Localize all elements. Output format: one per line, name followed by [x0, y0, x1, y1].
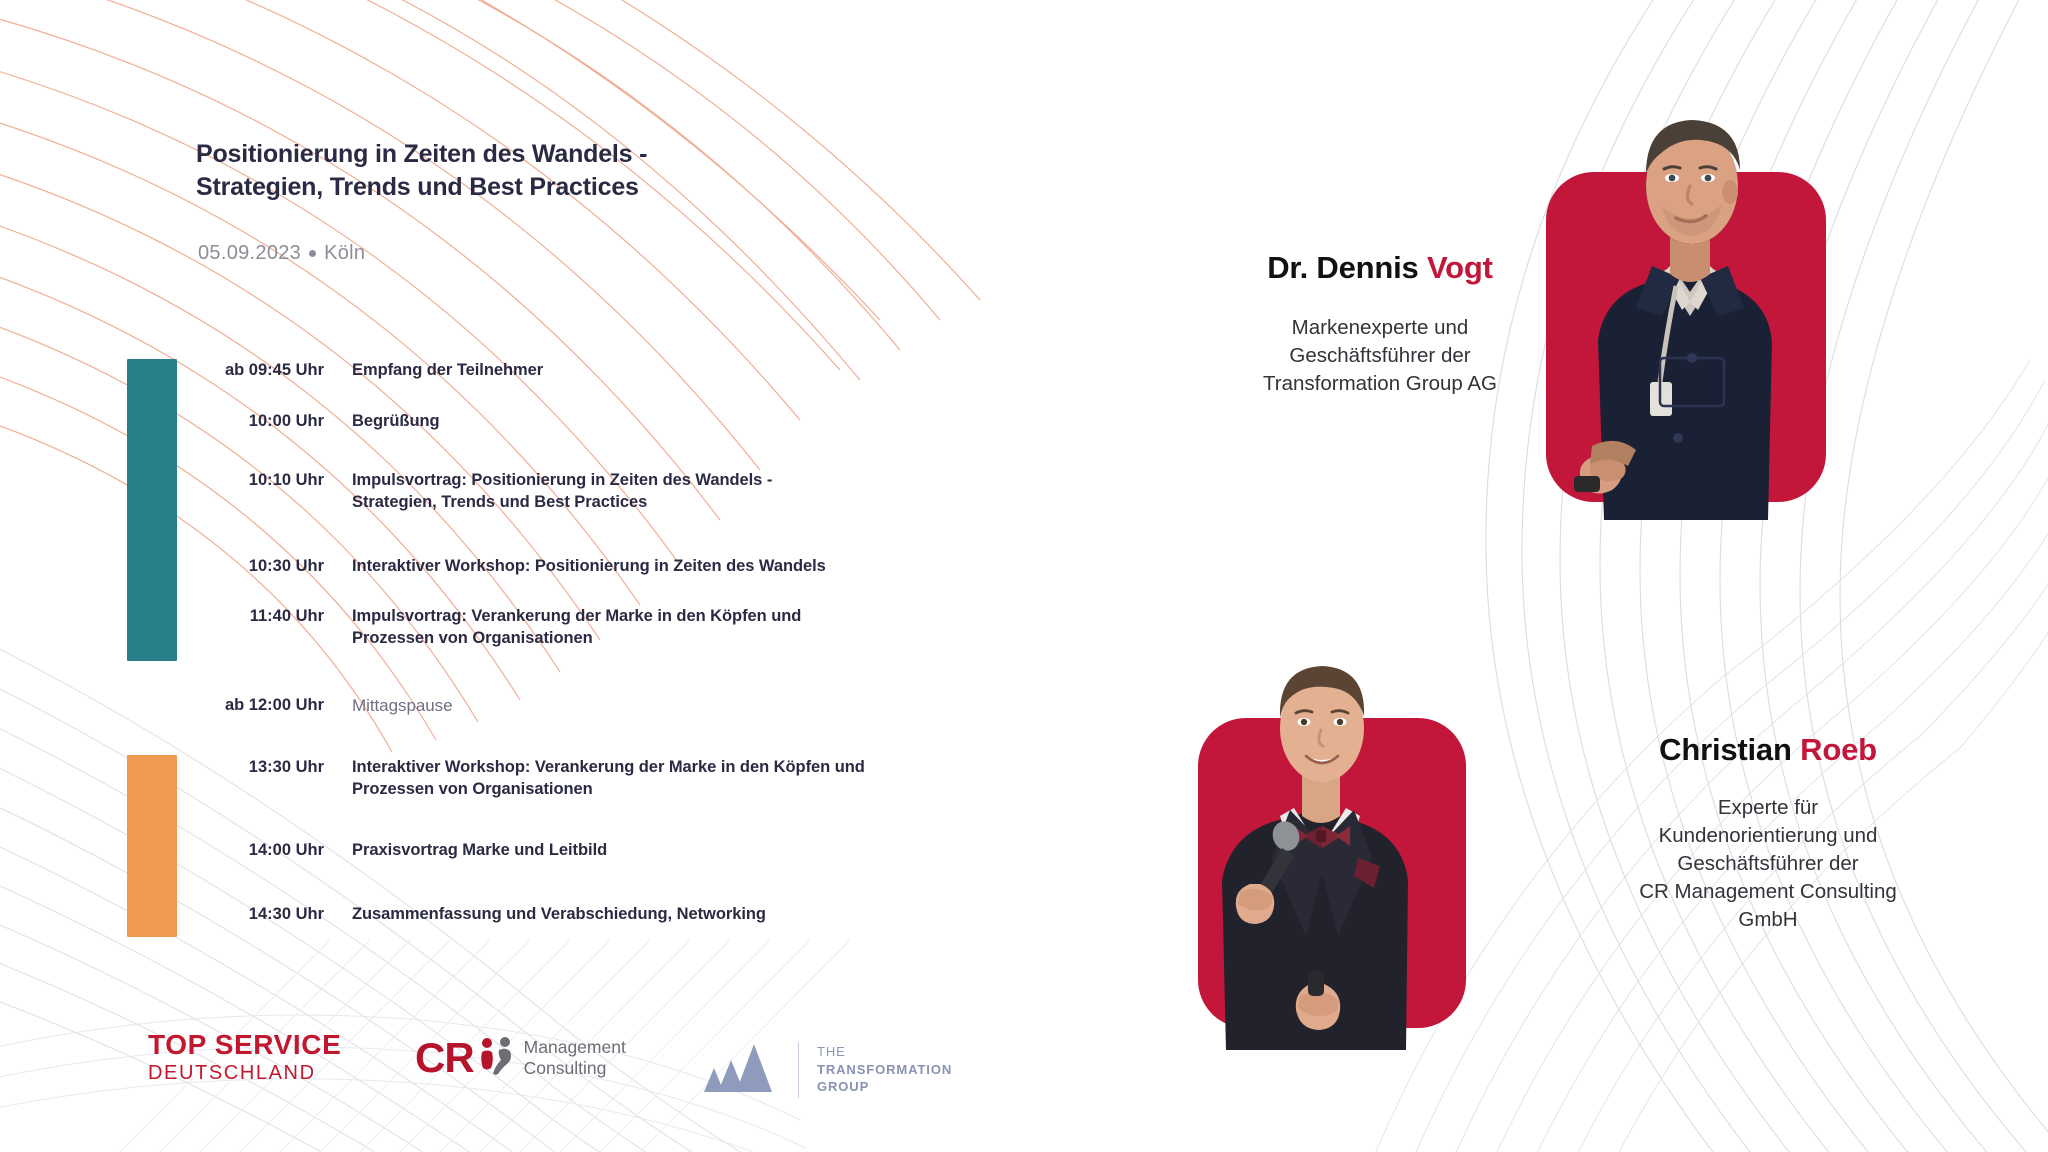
speaker-2-surname: Roeb: [1800, 732, 1877, 767]
agenda-item-time: 14:00 Uhr: [180, 840, 352, 862]
agenda-item-description: Mittagspause: [352, 695, 1000, 718]
speaker-1-surname: Vogt: [1427, 250, 1493, 285]
agenda-item: ab 12:00 Uhr Mittagspause: [180, 695, 1000, 718]
cr-logo-text: Management Consulting: [524, 1037, 626, 1078]
right-content-column: Dr. Dennis Vogt Markenexperte und Geschä…: [1100, 0, 2048, 1152]
speaker-2-role-line-1: Experte für: [1488, 794, 2048, 822]
speaker-card-1: Dr. Dennis Vogt Markenexperte und Geschä…: [1100, 250, 1660, 398]
left-content-column: Positionierung in Zeiten des Wandels - S…: [0, 0, 1100, 1152]
agenda-item: 10:10 Uhr Impulsvortrag: Positionierung …: [180, 470, 1000, 514]
poster-canvas: Positionierung in Zeiten des Wandels - S…: [0, 0, 2048, 1152]
agenda-item-description: Empfang der Teilnehmer: [352, 360, 1000, 382]
agenda-item-time: 10:30 Uhr: [180, 556, 352, 578]
speaker-2-role-line-3: Geschäftsführer der: [1488, 850, 2048, 878]
cr-logo-mark: CR: [415, 1037, 474, 1079]
agenda-item: 10:00 Uhr Begrüßung: [180, 411, 1000, 433]
cr-people-icon: [475, 1036, 517, 1080]
speaker-1-role-line-3: Transformation Group AG: [1100, 370, 1660, 398]
agenda-item-time: ab 09:45 Uhr: [180, 360, 352, 382]
agenda-item-description: Interaktiver Workshop: Positionierung in…: [352, 556, 1000, 578]
agenda-item-description: Praxisvortrag Marke und Leitbild: [352, 840, 1000, 862]
speaker-2-role-line-4: CR Management Consulting: [1488, 878, 2048, 906]
agenda-item: 13:30 Uhr Interaktiver Workshop: Veranke…: [180, 757, 1000, 801]
agenda-item: 11:40 Uhr Impulsvortrag: Verankerung der…: [180, 606, 1000, 650]
agenda-item-time: 14:30 Uhr: [180, 904, 352, 926]
top-service-deutschland-logo: TOP SERVICE DEUTSCHLAND: [148, 1030, 341, 1085]
speaker-1-firstname: Dr. Dennis: [1267, 250, 1418, 285]
cr-logo-text-line-2: Consulting: [524, 1058, 626, 1079]
speaker-1-name: Dr. Dennis Vogt: [1100, 250, 1660, 286]
transformation-group-logo: THE TRANSFORMATION GROUP: [690, 1038, 952, 1101]
speaker-2-role-line-2: Kundenorientierung und: [1488, 822, 2048, 850]
speaker-2-role-line-5: GmbH: [1488, 906, 2048, 934]
partner-logo-strip: TOP SERVICE DEUTSCHLAND CR Management Co…: [0, 1022, 1000, 1132]
logo-divider: [798, 1042, 799, 1098]
agenda-item-description: Interaktiver Workshop: Verankerung der M…: [352, 757, 932, 801]
top-service-logo-line-1: TOP SERVICE: [148, 1030, 341, 1059]
speaker-card-2: Christian Roeb Experte für Kundenorienti…: [1488, 732, 2048, 934]
agenda-item-time: 10:10 Uhr: [180, 470, 352, 514]
agenda-item-time: ab 12:00 Uhr: [180, 695, 352, 718]
agenda-item-description: Begrüßung: [352, 411, 1000, 433]
cr-logo-text-line-1: Management: [524, 1037, 626, 1058]
agenda-item-description: Impulsvortrag: Verankerung der Marke in …: [352, 606, 852, 650]
transformation-group-mountain-icon: [690, 1038, 782, 1101]
speaker-1-role-line-1: Markenexperte und: [1100, 314, 1660, 342]
agenda-item-time: 10:00 Uhr: [180, 411, 352, 433]
speaker-2-firstname: Christian: [1659, 732, 1792, 767]
agenda-item-description: Zusammenfassung und Verabschiedung, Netw…: [352, 904, 1000, 926]
transformation-group-line-3: GROUP: [817, 1078, 952, 1096]
agenda-item: 10:30 Uhr Interaktiver Workshop: Positio…: [180, 556, 1000, 578]
transformation-group-logo-text: THE TRANSFORMATION GROUP: [817, 1043, 952, 1096]
agenda-item-time: 13:30 Uhr: [180, 757, 352, 801]
speaker-1-role-line-2: Geschäftsführer der: [1100, 342, 1660, 370]
speaker-2-name: Christian Roeb: [1488, 732, 2048, 768]
agenda-list: ab 09:45 Uhr Empfang der Teilnehmer 10:0…: [0, 0, 1100, 1152]
speaker-1-role: Markenexperte und Geschäftsführer der Tr…: [1100, 314, 1660, 398]
agenda-item-time: 11:40 Uhr: [180, 606, 352, 650]
agenda-item-description: Impulsvortrag: Positionierung in Zeiten …: [352, 470, 822, 514]
cr-management-consulting-logo: CR Management Consulting: [415, 1036, 626, 1080]
speaker-2-role: Experte für Kundenorientierung und Gesch…: [1488, 794, 2048, 934]
agenda-item: ab 09:45 Uhr Empfang der Teilnehmer: [180, 360, 1000, 382]
transformation-group-line-1: THE: [817, 1043, 952, 1061]
transformation-group-line-2: TRANSFORMATION: [817, 1061, 952, 1079]
top-service-logo-line-2: DEUTSCHLAND: [148, 1061, 341, 1085]
agenda-item: 14:30 Uhr Zusammenfassung und Verabschie…: [180, 904, 1000, 926]
agenda-item: 14:00 Uhr Praxisvortrag Marke und Leitbi…: [180, 840, 1000, 862]
